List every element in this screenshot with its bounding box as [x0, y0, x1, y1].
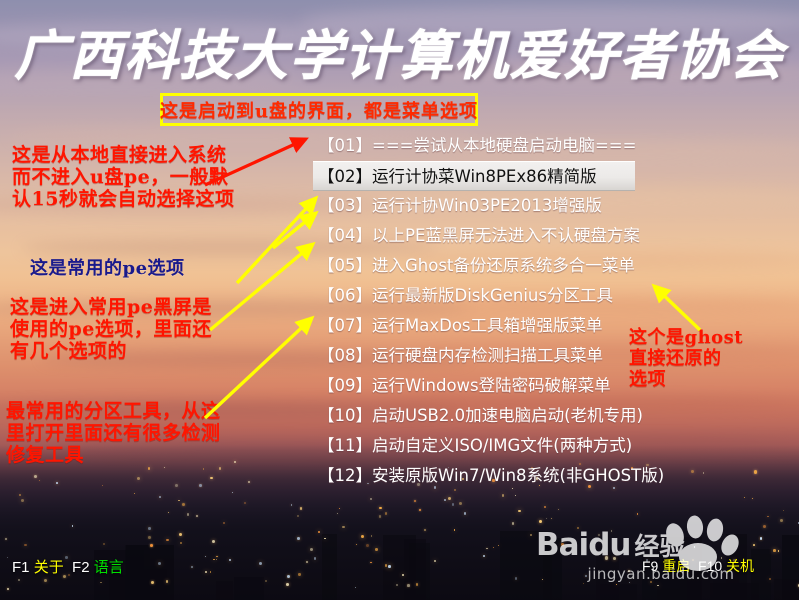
city-light [24, 544, 27, 547]
city-light [182, 503, 185, 506]
city-light [39, 480, 40, 481]
city-light [459, 502, 462, 505]
city-light [229, 559, 231, 561]
city-light [213, 559, 214, 560]
watermark-brand-row: Bai du 经验 [536, 527, 786, 563]
watermark-du: du [588, 527, 630, 563]
city-light [187, 513, 189, 515]
city-light [210, 477, 213, 480]
city-light [191, 566, 193, 568]
city-light [416, 583, 418, 585]
city-light [502, 494, 505, 497]
city-light [310, 548, 313, 551]
city-light [752, 498, 753, 499]
city-light [205, 556, 207, 558]
fnkey-label-f2: 语言 [94, 559, 124, 576]
city-light [370, 562, 371, 563]
fnkey-f1: F1 [12, 559, 34, 576]
city-light [518, 510, 521, 513]
building-block [404, 539, 426, 600]
city-light [103, 543, 105, 545]
city-light [371, 535, 373, 537]
city-light [18, 579, 20, 581]
city-light [486, 548, 488, 550]
city-light [287, 575, 290, 578]
city-light [232, 492, 233, 493]
city-light [448, 497, 451, 500]
annotation-ghost-option: 这个是ghost 直接还原的 选项 [629, 327, 743, 390]
city-light [414, 500, 416, 502]
city-light [205, 571, 207, 573]
city-light [402, 574, 404, 576]
boot-menu-screen: 广西科技大学计算机爱好者协会 这是启动到u盘的界面，都是菜单选项 【01】===… [0, 0, 799, 600]
city-light [339, 508, 340, 509]
city-light [464, 512, 466, 514]
city-light [148, 527, 151, 530]
city-light [493, 547, 494, 548]
menu-item-07[interactable]: 【07】运行MaxDos工具箱增强版菜单 [313, 311, 643, 341]
menu-item-12[interactable]: 【12】安装原版Win7/Win8系统(非GHOST版) [313, 461, 643, 491]
city-light [512, 522, 515, 525]
city-light [164, 467, 165, 468]
annotation-local-boot: 这是从本地直接进入系统 而不进入u盘pe，一般默 认15秒就会自动选择这项 [12, 144, 234, 211]
city-light [179, 533, 182, 536]
page-title: 广西科技大学计算机爱好者协会 [0, 14, 799, 90]
city-light [544, 506, 546, 508]
annotation-partition-tool: 最常用的分区工具，从这 里打开里面还有很多检测 修复工具 [6, 400, 221, 467]
city-light [159, 496, 161, 498]
city-light [298, 573, 300, 575]
city-light [318, 531, 320, 533]
building-block [216, 581, 233, 600]
city-light [452, 503, 454, 505]
city-light [150, 544, 153, 547]
city-light [454, 529, 456, 531]
fnkey-label-f1: 关于 [34, 559, 64, 576]
menu-item-03[interactable]: 【03】运行计协Win03PE2013增强版 [313, 191, 643, 221]
annotation-common-pe-detail: 这是进入常用pe黑屏是 使用的pe选项，里面还 有几个选项的 [10, 296, 212, 363]
city-light [219, 467, 221, 469]
city-light [324, 538, 326, 540]
city-light [203, 468, 205, 470]
city-light [216, 556, 217, 557]
city-light [314, 557, 316, 559]
city-light [483, 555, 485, 557]
city-light [19, 494, 21, 496]
caption-box: 这是启动到u盘的界面，都是菜单选项 [160, 93, 478, 126]
watermark-bai: Bai [536, 527, 588, 563]
city-light [424, 529, 426, 531]
city-light [34, 475, 37, 478]
city-light [337, 513, 338, 514]
menu-item-04[interactable]: 【04】以上PE蓝黑屏无法进入不认硬盘方案 [313, 221, 643, 251]
footer-keys-left: F1 关于 F2 语言 [12, 556, 124, 577]
city-light [212, 540, 215, 543]
city-light [44, 579, 47, 582]
city-light [356, 544, 357, 545]
city-light [148, 467, 151, 470]
city-light [300, 507, 303, 510]
baidu-jingyan-watermark: Bai du 经验 jingyan.baidu.com [536, 527, 786, 589]
menu-item-06[interactable]: 【06】运行最新版DiskGenius分区工具 [313, 281, 643, 311]
caption-text: 这是启动到u盘的界面，都是菜单选项 [160, 97, 478, 123]
city-light [297, 537, 300, 540]
city-light [375, 548, 378, 551]
city-light [558, 509, 559, 510]
boot-menu-list[interactable]: 【01】===尝试从本地硬盘启动电脑===【02】运行计协菜Win8PEx86精… [313, 131, 643, 491]
menu-item-10[interactable]: 【10】启动USB2.0加速电脑启动(老机专用) [313, 401, 643, 431]
city-light [385, 512, 388, 515]
city-light [780, 519, 783, 522]
city-light [210, 571, 212, 573]
annotation-common-pe: 这是常用的pe选项 [30, 258, 185, 279]
city-light [703, 472, 704, 473]
city-light [515, 495, 516, 496]
menu-item-05[interactable]: 【05】进入Ghost备份还原系统多合一菜单 [313, 251, 643, 281]
city-light [175, 484, 178, 487]
city-light [199, 484, 202, 487]
city-light [7, 557, 8, 558]
city-light [166, 580, 169, 583]
city-light [216, 559, 217, 560]
city-light [744, 497, 746, 499]
city-light [168, 512, 169, 513]
building-block [234, 577, 264, 600]
city-light [166, 539, 169, 542]
city-light [244, 502, 246, 504]
city-light [148, 536, 151, 539]
city-light [265, 580, 267, 582]
city-light [551, 518, 552, 519]
city-light [767, 516, 769, 518]
city-light [546, 518, 547, 519]
city-light [56, 482, 58, 484]
city-light [419, 509, 420, 510]
watermark-url: jingyan.baidu.com [536, 565, 786, 583]
city-light [297, 515, 299, 517]
city-light [355, 587, 357, 589]
city-light [102, 485, 104, 487]
city-light [783, 510, 784, 511]
building-block [322, 534, 337, 600]
city-light [498, 545, 499, 546]
city-light [180, 542, 182, 544]
city-light [178, 500, 180, 502]
menu-item-09[interactable]: 【09】运行Windows登陆密码破解菜单 [313, 371, 643, 401]
city-light [539, 520, 542, 523]
city-light [370, 498, 371, 499]
city-light [286, 583, 289, 586]
city-light [444, 499, 446, 501]
city-light [361, 535, 364, 538]
city-light [196, 515, 198, 517]
city-light [388, 565, 391, 568]
city-light [691, 470, 694, 473]
menu-item-02[interactable]: 【02】运行计协菜Win8PEx86精简版 [313, 161, 635, 191]
fnkey-separator [64, 559, 72, 576]
city-light [223, 522, 225, 524]
fnkey-f2: F2 [72, 559, 94, 576]
city-light [248, 481, 250, 483]
city-light [366, 544, 369, 547]
city-light [342, 526, 344, 528]
city-light [530, 534, 532, 536]
city-light [137, 477, 140, 480]
menu-item-01[interactable]: 【01】===尝试从本地硬盘启动电脑=== [313, 131, 643, 161]
menu-item-11[interactable]: 【11】启动自定义ISO/IMG文件(两种方式) [313, 431, 643, 461]
city-light [72, 525, 74, 527]
city-light [379, 515, 381, 517]
city-light [637, 513, 639, 515]
city-light [754, 470, 757, 473]
city-light [291, 504, 293, 506]
city-light [259, 562, 262, 565]
city-light [379, 507, 381, 509]
paw-icon [662, 515, 740, 571]
city-light [134, 493, 136, 495]
city-light [5, 538, 7, 540]
city-light [306, 561, 308, 563]
building-block [125, 545, 150, 600]
city-light [234, 461, 236, 463]
city-light [21, 499, 24, 502]
city-light [434, 560, 436, 562]
city-light [7, 588, 9, 590]
menu-item-08[interactable]: 【08】运行硬盘内存检测扫描工具菜单 [313, 341, 643, 371]
city-light [407, 584, 410, 587]
